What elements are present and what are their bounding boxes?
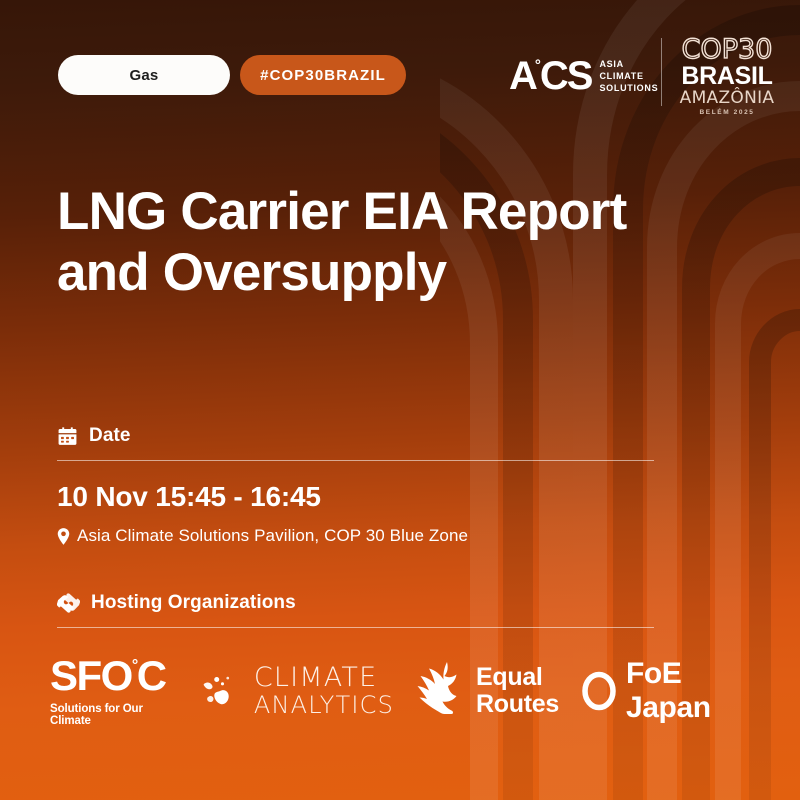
- date-section-heading: Date: [89, 425, 131, 447]
- acs-logo: A ° CS ASIA CLIMATE SOLUTIONS: [509, 52, 658, 100]
- cop30-line-belem: BELÉM 2025: [699, 110, 754, 117]
- ring-icon: [581, 671, 617, 711]
- degree-icon: °: [535, 58, 539, 73]
- cop30-line-amazonia: AMAZÔNIA: [680, 90, 775, 107]
- sfoc-letter-c: C: [137, 655, 166, 697]
- calendar-icon: [57, 426, 78, 447]
- hashtag-pill-label: #COP30BRAZIL: [260, 67, 386, 84]
- topic-pill-gas[interactable]: Gas: [58, 55, 230, 95]
- sfoc-letters: SFO: [50, 655, 132, 697]
- logo-climate-analytics: CLIMATE ANALYTICS: [199, 664, 394, 717]
- globe-icon: [199, 668, 245, 714]
- ca-line-analytics: ANALYTICS: [254, 693, 394, 717]
- sfoc-wordmark: SFO ° C: [50, 655, 166, 697]
- cop30-line-cop30: COP30: [682, 36, 773, 63]
- hashtag-pill[interactable]: #COP30BRAZIL: [240, 55, 406, 95]
- feather-wing-icon: [416, 660, 468, 722]
- date-section: Date 10 Nov 15:45 - 16:45 Asia Climate S…: [57, 425, 657, 546]
- hosting-section-header: Hosting Organizations: [57, 592, 657, 614]
- acs-letters-cs: CS: [540, 56, 592, 96]
- handshake-icon: [57, 593, 80, 613]
- cop30-logo: COP30 BRASIL AMAZÔNIA BELÉM 2025: [679, 36, 775, 117]
- acs-logo-wordmark: ASIA CLIMATE SOLUTIONS: [599, 58, 658, 94]
- event-location-row: Asia Climate Solutions Pavilion, COP 30 …: [57, 526, 657, 546]
- er-line-equal: Equal: [476, 664, 559, 690]
- acs-word-solutions: SOLUTIONS: [599, 82, 658, 94]
- organization-logo-strip: SFO ° C Solutions for Our Climate CLIMAT…: [50, 648, 760, 733]
- equal-routes-wordmark: Equal Routes: [476, 664, 559, 717]
- sfoc-tagline: Solutions for Our Climate: [50, 703, 177, 727]
- logo-equal-routes: Equal Routes: [416, 660, 559, 722]
- location-pin-icon: [57, 528, 70, 545]
- date-section-rule: [57, 460, 654, 461]
- climate-analytics-wordmark: CLIMATE ANALYTICS: [254, 664, 394, 717]
- logo-divider: [661, 38, 662, 106]
- er-line-routes: Routes: [476, 691, 559, 717]
- poster-header: Gas #COP30BRAZIL A ° CS ASIA CLIMATE SOL…: [0, 0, 800, 130]
- acs-word-climate: CLIMATE: [599, 70, 658, 82]
- cop30-line-brasil: BRASIL: [681, 64, 772, 89]
- date-section-header: Date: [57, 425, 657, 447]
- hosting-section-heading: Hosting Organizations: [91, 592, 296, 614]
- foe-japan-wordmark: FoE Japan: [626, 657, 760, 725]
- acs-letter-a: A: [509, 56, 536, 96]
- hosting-section: Hosting Organizations: [57, 592, 657, 628]
- event-title: LNG Carrier EIA Report and Oversupply: [57, 181, 677, 304]
- event-datetime: 10 Nov 15:45 - 16:45: [57, 481, 657, 513]
- degree-icon: °: [132, 658, 137, 674]
- topic-pill-label: Gas: [130, 67, 159, 84]
- acs-logo-mark: A ° CS: [509, 56, 591, 96]
- event-location: Asia Climate Solutions Pavilion, COP 30 …: [77, 526, 468, 546]
- acs-word-asia: ASIA: [599, 58, 658, 70]
- ca-line-climate: CLIMATE: [254, 664, 394, 691]
- event-poster: Gas #COP30BRAZIL A ° CS ASIA CLIMATE SOL…: [0, 0, 800, 800]
- logo-foe-japan: FoE Japan: [581, 657, 760, 725]
- hosting-section-rule: [57, 627, 654, 628]
- logo-sfoc: SFO ° C Solutions for Our Climate: [50, 655, 177, 727]
